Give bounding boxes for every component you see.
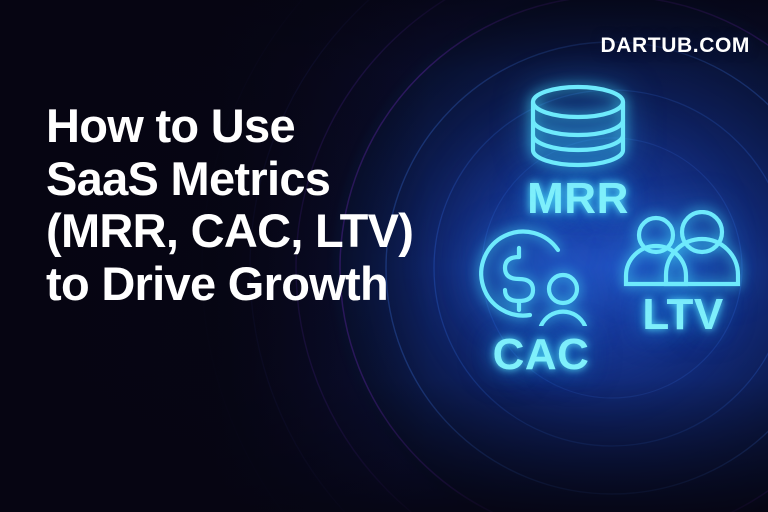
title-line-2: SaaS Metrics (46, 153, 446, 206)
site-watermark: DARTUB.COM (601, 34, 750, 58)
metric-ltv-label: LTV (618, 293, 748, 337)
metric-cac: CAC (466, 226, 616, 377)
metric-ltv: LTV (618, 210, 748, 337)
title-line-4: to Drive Growth (46, 258, 446, 311)
graphic-canvas: DARTUB.COM How to Use SaaS Metrics (MRR,… (0, 0, 768, 512)
metric-cac-label: CAC (466, 333, 616, 377)
database-cylinder-icon (498, 84, 658, 173)
title-line-1: How to Use (46, 100, 446, 153)
two-people-icon (618, 210, 748, 293)
dollar-circle-person-icon (466, 226, 616, 331)
title-line-3: (MRR, CAC, LTV) (46, 205, 446, 258)
metric-mrr: MRR (498, 84, 658, 221)
page-title: How to Use SaaS Metrics (MRR, CAC, LTV) … (46, 100, 446, 311)
